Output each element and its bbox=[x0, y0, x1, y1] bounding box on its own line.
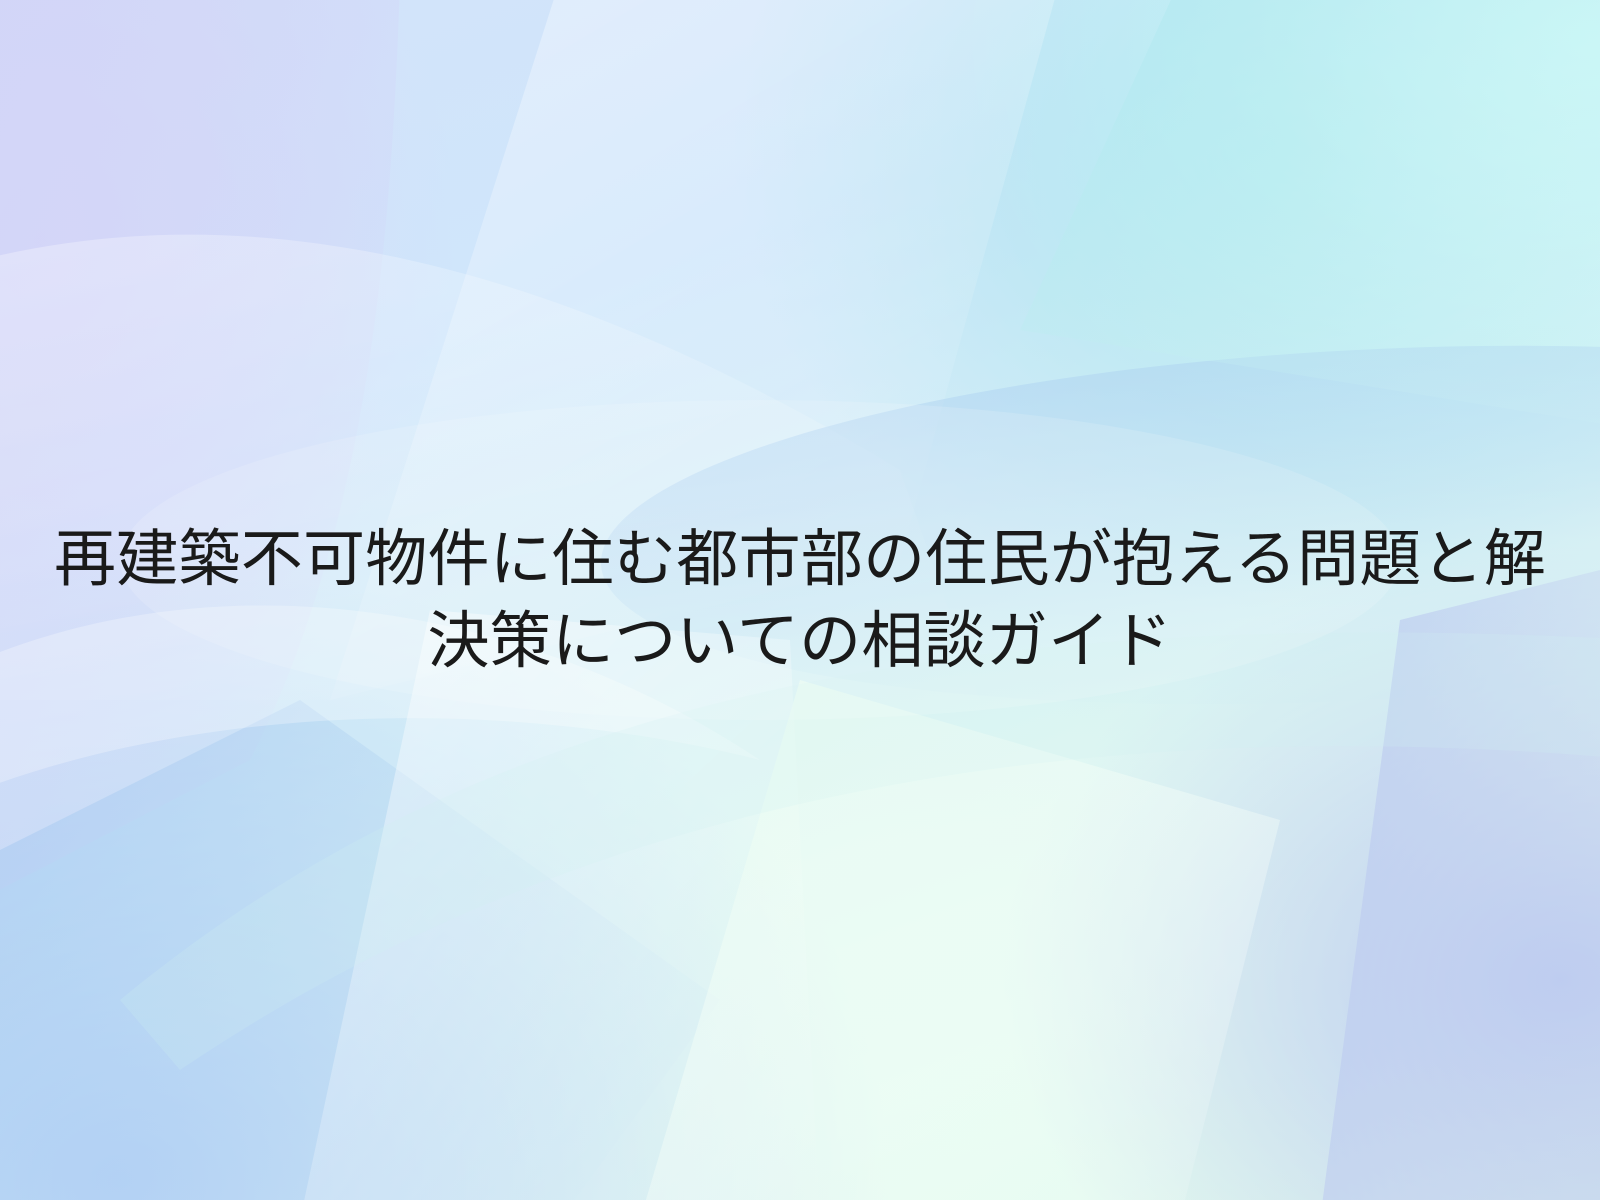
slide-title-line-2: ついての相談ガイド bbox=[614, 604, 1172, 677]
title-slide: 再建築不可物件に住む都市部の住民が抱える問題と解決策に ついての相談ガイド bbox=[0, 0, 1600, 1200]
title-block: 再建築不可物件に住む都市部の住民が抱える問題と解決策に ついての相談ガイド bbox=[0, 0, 1600, 1200]
slide-title: 再建築不可物件に住む都市部の住民が抱える問題と解決策に ついての相談ガイド bbox=[45, 518, 1555, 682]
